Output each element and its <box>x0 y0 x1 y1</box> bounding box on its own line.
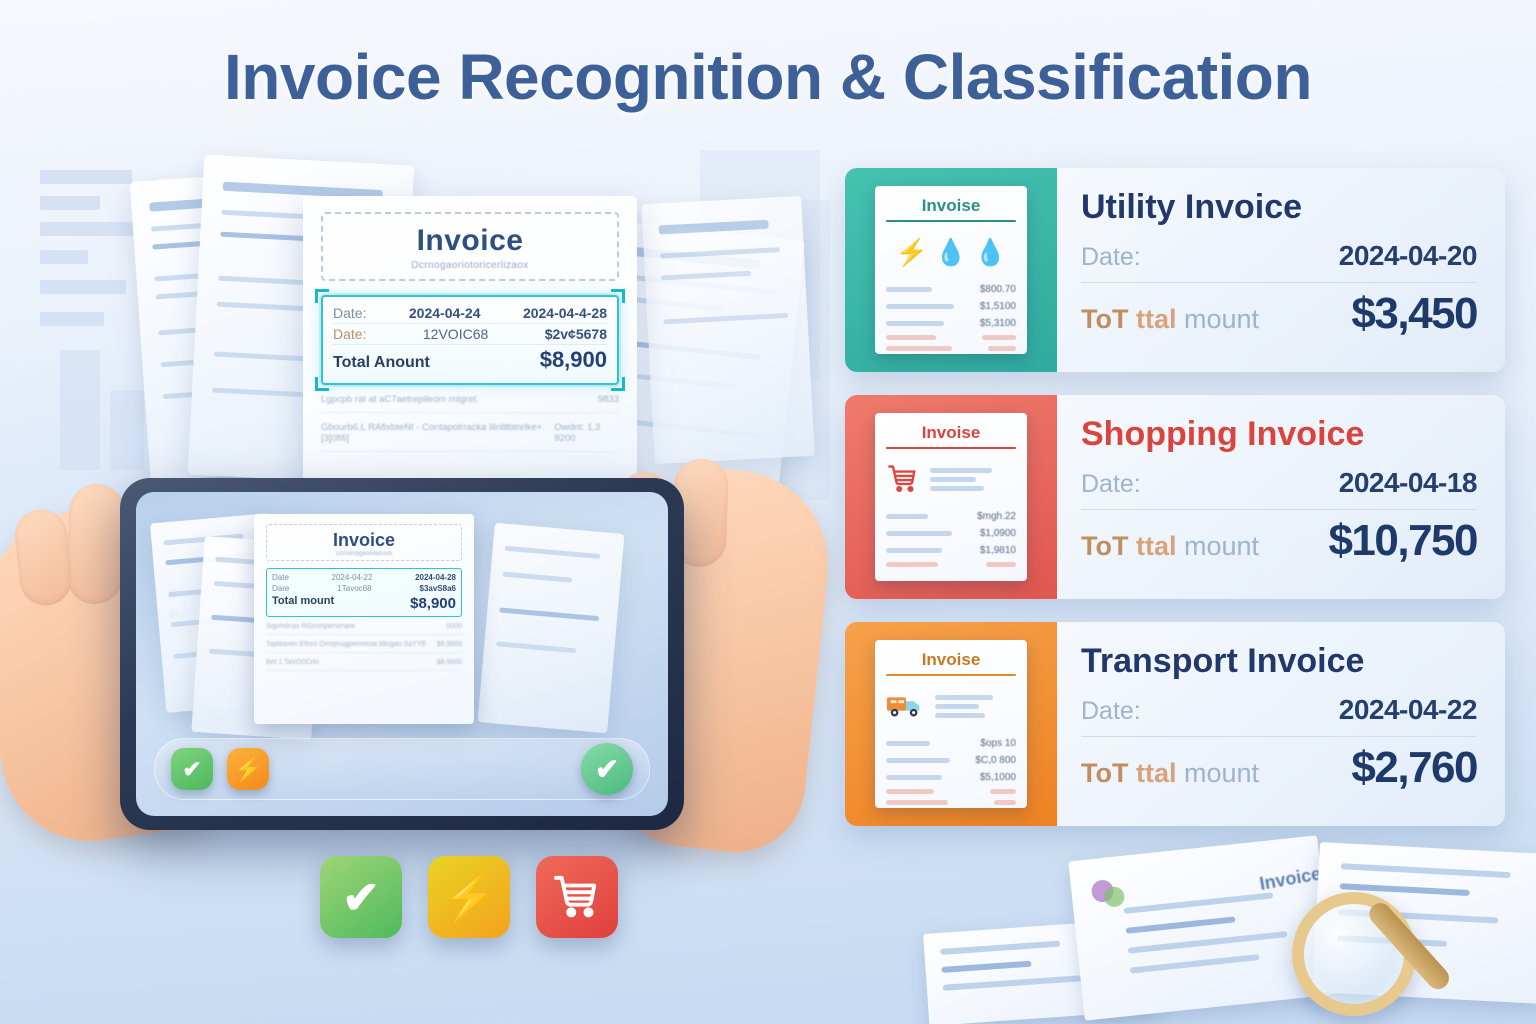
date-label: Date: <box>1081 470 1141 499</box>
mini-invoice-preview: Invoise ⚡ 💧 💧 $800.70 $1,5100 <box>875 186 1027 354</box>
phone-total-row: Total mount $8,900 <box>272 594 456 613</box>
card-title: Transport Invoice <box>1081 644 1477 680</box>
mini-row-list: $ops 10 $C,0 800 $5,1000 <box>886 735 1016 808</box>
detail-amount: Owdnt: 1,3 9200 <box>554 422 619 444</box>
water-drop-icon: 💧 <box>935 239 967 265</box>
mini-row: $5,1000 <box>886 769 1016 786</box>
mini-row-list: $800.70 $1,5100 $5,3100 <box>886 281 1016 354</box>
mini-invoice-title: Invoise <box>886 423 1016 447</box>
mini-rule <box>886 674 1016 676</box>
card-total-row: ToT ttal mount $2,760 <box>1081 743 1477 793</box>
card-divider <box>1081 509 1477 510</box>
card-thumbnail: Invoise ⚡ 💧 💧 $800.70 $1,5100 <box>845 168 1057 372</box>
ocr-highlight-region: Date: 2024-04-24 2024-04-4-28 Date: 12VO… <box>321 295 619 385</box>
phone-ocr-highlight: Date 2024-04-22 2024-04-28 Dare 1Tavoc68… <box>266 568 462 617</box>
detail-text: Lgpcpb rat at aC7aetrepileom rntgret. <box>321 394 479 405</box>
scan-corner-top-left <box>315 289 329 303</box>
mini-row <box>886 343 1016 354</box>
mini-amount: $5,3100 <box>980 318 1016 329</box>
scan-corner-top-right <box>611 289 625 303</box>
invoice-total-row: Total Anount $8,900 <box>333 344 607 375</box>
power-bolt-icon[interactable]: ⚡ <box>227 748 269 790</box>
mini-invoice-preview: Invoise <box>875 640 1027 808</box>
verified-check-icon[interactable]: ✔ <box>171 748 213 790</box>
mini-row: $mgh.22 <box>886 508 1016 525</box>
card-total-row: ToT ttal mount $3,450 <box>1081 289 1477 339</box>
card-body: Utility Invoice Date: 2024-04-20 ToT tta… <box>1057 168 1505 372</box>
detail-text: Bet 1 TaVO0Crtn. <box>266 659 321 666</box>
mini-invoice-title: Invoise <box>886 196 1016 220</box>
delivery-truck-icon <box>886 692 926 720</box>
mini-amount: $1,9810 <box>980 545 1016 556</box>
detail-text: Gbourb6.L RAfixbteNt - Contapolrracka li… <box>321 422 554 444</box>
phone-invoice-title-box: Invoice Dcrnorrpgaoridazoon <box>266 524 462 561</box>
mini-row: $1,9810 <box>886 542 1016 559</box>
magnifier-handle <box>1365 899 1454 994</box>
field-label: Date: <box>333 326 366 342</box>
card-thumbnail: Invoise <box>845 395 1057 599</box>
card-thumbnail: Invoise <box>845 622 1057 826</box>
mini-row: $1,0900 <box>886 525 1016 542</box>
total-label: Total Anount <box>333 354 430 372</box>
field-label: Dare <box>272 584 289 593</box>
total-label: Total mount <box>272 595 334 612</box>
magnifier-icon <box>1292 892 1416 1016</box>
phone-scanned-invoice: Invoice Dcrnorrpgaoridazoon Date 2024-04… <box>254 514 474 724</box>
water-drop-icon: 💧 <box>974 239 1006 265</box>
mini-row <box>886 786 1016 797</box>
mini-rule <box>886 447 1016 449</box>
phone-invoice-heading: Invoice <box>269 530 459 551</box>
mini-row: $ops 10 <box>886 735 1016 752</box>
confirm-check-icon[interactable]: ✔ <box>581 743 633 795</box>
field-value: 1Tavoc68 <box>337 584 371 593</box>
mini-row <box>886 332 1016 343</box>
classification-card-utility[interactable]: Invoise ⚡ 💧 💧 $800.70 $1,5100 <box>845 168 1505 372</box>
mini-amount: $mgh.22 <box>977 511 1016 522</box>
phone-screen[interactable]: Invoice Dcrnorrpgaoridazoon Date 2024-04… <box>136 492 668 816</box>
mini-amount: $5,1000 <box>980 772 1016 783</box>
classification-card-transport[interactable]: Invoise <box>845 622 1505 826</box>
phone-background-document <box>478 523 625 734</box>
card-total-row: ToT ttal mount $10,750 <box>1081 516 1477 566</box>
invoice-subheading: Dcrnogaoriotoricerlizaox <box>329 260 611 271</box>
detail-amount: 9833 <box>598 394 619 405</box>
phone-detail-line: Bet 1 TaVO0Crtn. $8,9800 <box>266 659 462 671</box>
card-body: Shopping Invoice Date: 2024-04-18 ToT tt… <box>1057 395 1505 599</box>
field-value: 12VOIC68 <box>423 326 488 342</box>
field-value: 2024-04-22 <box>332 573 373 582</box>
card-date-row: Date: 2024-04-22 <box>1081 694 1477 726</box>
page-title: Invoice Recognition & Classification <box>0 40 1536 114</box>
card-divider <box>1081 736 1477 737</box>
mini-amount: $ops 10 <box>980 738 1016 749</box>
approved-check-tile[interactable]: ✔ <box>320 856 402 938</box>
pile-sheet <box>1312 842 1536 1004</box>
field-value-secondary: 2024-04-4-28 <box>523 305 607 321</box>
mini-row-list: $mgh.22 $1,0900 $1,9810 <box>886 508 1016 570</box>
total-label: ToT ttal mount <box>1081 531 1259 562</box>
field-label: Date: <box>333 305 366 321</box>
invoice-detail-line: Gbourb6.L RAfixbteNt - Contapolrracka li… <box>321 422 619 452</box>
mini-icon-row <box>886 684 1016 728</box>
detail-text: Sqpmdnax RGeortplerwnare. <box>266 623 357 630</box>
pile-label: Invoices <box>1258 862 1333 895</box>
electricity-bolt-icon: ⚡ <box>895 239 927 265</box>
phone-action-bar[interactable]: ✔ ⚡ ✔ <box>154 738 650 800</box>
date-value: 2024-04-20 <box>1339 240 1477 272</box>
card-title: Utility Invoice <box>1081 190 1477 226</box>
category-tile-row: ✔ ⚡ <box>320 856 618 938</box>
date-label: Date: <box>1081 697 1141 726</box>
card-date-row: Date: 2024-04-20 <box>1081 240 1477 272</box>
date-label: Date: <box>1081 243 1141 272</box>
card-title: Shopping Invoice <box>1081 417 1477 453</box>
invoice-field-row: Date: 12VOIC68 $2v¢5678 <box>333 323 607 344</box>
card-divider <box>1081 282 1477 283</box>
classification-card-shopping[interactable]: Invoise <box>845 395 1505 599</box>
mini-icon-row: ⚡ 💧 💧 <box>886 230 1016 274</box>
field-value-secondary: $2v¢5678 <box>545 326 607 342</box>
scan-corner-bottom-right <box>611 377 625 391</box>
phone-field-row: Dare 1Tavoc68 $3avS8a6 <box>272 583 456 594</box>
total-value: $10,750 <box>1328 516 1477 566</box>
mini-amount: $1,0900 <box>980 528 1016 539</box>
total-label: ToT ttal mount <box>1081 758 1259 789</box>
mini-icon-row <box>886 457 1016 501</box>
phone-invoice-subheading: Dcrnorrpgaoridazoon <box>269 551 459 557</box>
mini-rule <box>886 220 1016 222</box>
invoice-heading: Invoice <box>329 224 611 258</box>
background-document-4 <box>641 196 814 464</box>
classification-card-list: Invoise ⚡ 💧 💧 $800.70 $1,5100 <box>845 168 1505 849</box>
shopping-cart-tile[interactable] <box>536 856 618 938</box>
total-value: $2,760 <box>1351 743 1477 793</box>
mini-invoice-preview: Invoise <box>875 413 1027 581</box>
mini-amount: $1,5100 <box>980 301 1016 312</box>
smartphone-device[interactable]: Invoice Dcrnorrpgaoridazoon Date 2024-04… <box>120 478 684 830</box>
utility-bolt-tile[interactable]: ⚡ <box>428 856 510 938</box>
shopping-cart-icon <box>552 874 602 920</box>
phone-field-row: Date 2024-04-22 2024-04-28 <box>272 572 456 583</box>
mini-row: $5,3100 <box>886 315 1016 332</box>
invoice-title-box: Invoice Dcrnogaoriotoricerlizaox <box>321 212 619 281</box>
detail-amount: 0000 <box>446 623 462 630</box>
total-label: ToT ttal mount <box>1081 304 1259 335</box>
date-value: 2024-04-22 <box>1339 694 1477 726</box>
field-value-secondary: 2024-04-28 <box>415 573 456 582</box>
detail-text: Taplitaven Effoct Omrpnugpenretsla bllog… <box>266 641 426 648</box>
invoice-field-row: Date: 2024-04-24 2024-04-4-28 <box>333 303 607 323</box>
card-body: Transport Invoice Date: 2024-04-22 ToT t… <box>1057 622 1505 826</box>
detail-amount: $8,9800 <box>437 641 462 648</box>
mini-amount: $C,0 800 <box>975 755 1016 766</box>
invoice-detail-line: Lgpcpb rat at aC7aetrepileom rntgret. 98… <box>321 394 619 413</box>
pile-sheet: Invoices <box>1068 835 1333 1020</box>
pile-sheet <box>923 918 1159 1024</box>
mini-invoice-title: Invoise <box>886 650 1016 674</box>
mini-row: $1,5100 <box>886 298 1016 315</box>
date-value: 2024-04-18 <box>1339 467 1477 499</box>
mini-amount: $800.70 <box>980 284 1016 295</box>
mini-row <box>886 559 1016 570</box>
phone-detail-line: Sqpmdnax RGeortplerwnare. 0000 <box>266 623 462 635</box>
field-value-secondary: $3avS8a6 <box>420 584 456 593</box>
mini-row: $C,0 800 <box>886 752 1016 769</box>
card-date-row: Date: 2024-04-18 <box>1081 467 1477 499</box>
total-value: $8,900 <box>540 347 607 373</box>
shopping-cart-icon <box>886 464 920 494</box>
mini-row: $800.70 <box>886 281 1016 298</box>
scanned-invoice-document: Invoice Dcrnogaoriotoricerlizaox Date: 2… <box>303 196 637 496</box>
total-value: $8,900 <box>410 595 456 612</box>
scan-corner-bottom-left <box>315 377 329 391</box>
phone-detail-line: Taplitaven Effoct Omrpnugpenretsla bllog… <box>266 641 462 653</box>
total-value: $3,450 <box>1351 289 1477 339</box>
detail-amount: $8,9800 <box>437 659 462 666</box>
field-label: Date <box>272 573 289 582</box>
field-value: 2024-04-24 <box>409 305 481 321</box>
mini-row <box>886 797 1016 808</box>
